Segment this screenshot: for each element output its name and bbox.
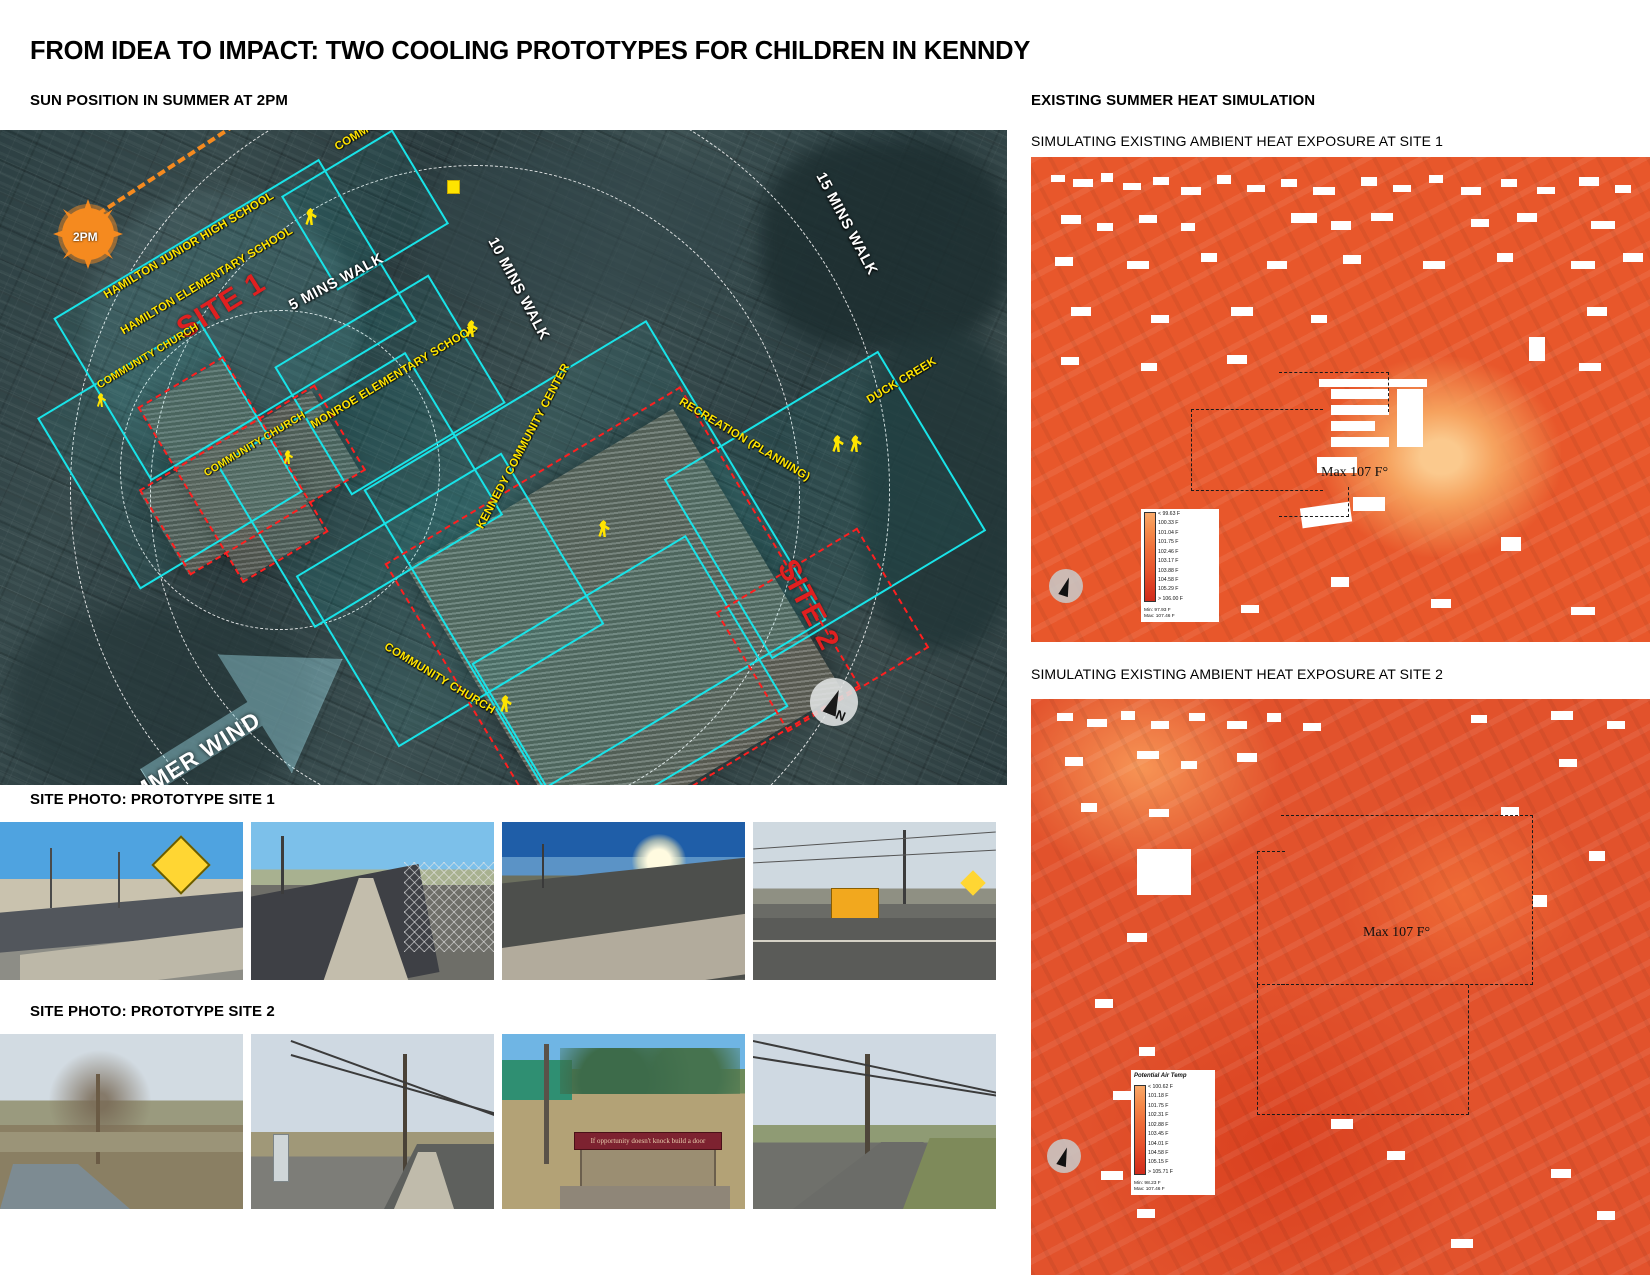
site2-study-boundary-notch: [1257, 851, 1285, 985]
legend-tick: 101.04 F: [1158, 531, 1183, 536]
building-footprint: [1241, 605, 1259, 613]
building-footprint: [1057, 713, 1073, 721]
section-heading-site-photo-1: SITE PHOTO: PROTOTYPE SITE 1: [30, 791, 275, 808]
legend-tick: 105.15 F: [1148, 1160, 1173, 1165]
building-footprint: [1139, 1047, 1155, 1056]
building-footprint: [1331, 437, 1389, 447]
building-footprint: [1055, 257, 1073, 266]
bench: [580, 1150, 716, 1190]
bench-sign-plank: If opportunity doesn't knock build a doo…: [574, 1132, 722, 1150]
large-building-footprint: [1137, 849, 1191, 895]
legend-tick: 104.01 F: [1148, 1142, 1173, 1147]
building-footprint: [1101, 1171, 1123, 1180]
building-footprint: [1073, 179, 1093, 187]
building-footprint: [1331, 221, 1351, 230]
poster-board: FROM IDEA TO IMPACT: TWO COOLING PROTOTY…: [0, 0, 1650, 1275]
aerial-context-map[interactable]: SUMMER WIND 2PM 5 MINS WALK 10 MINS WALK: [0, 130, 1007, 785]
building-footprint: [1353, 497, 1385, 511]
site2-legend: < 100.62 F 101.18 F 101.75 F 102.31 F 10…: [1131, 1082, 1215, 1178]
legend-tick: 102.31 F: [1148, 1113, 1173, 1118]
utility-pole: [281, 836, 284, 894]
utility-pole: [50, 848, 52, 908]
crossing-sign-icon: [960, 870, 985, 895]
building-footprint: [1393, 185, 1411, 192]
bare-tree-canopy: [40, 1044, 160, 1140]
building-footprint: [1551, 1169, 1571, 1178]
legend-tick: 103.17 F: [1158, 559, 1183, 564]
building-footprint: [1153, 177, 1169, 185]
building-footprint: [1071, 307, 1091, 316]
sun-time-label: 2PM: [73, 230, 98, 244]
building-footprint: [1461, 187, 1481, 195]
building-footprint: [1579, 363, 1601, 371]
building-footprint: [1181, 761, 1197, 769]
building-footprint: [1587, 307, 1607, 316]
lane-marking: [753, 940, 996, 942]
roadside-box: [273, 1134, 289, 1182]
building-footprint: [1559, 759, 1577, 767]
legend-tick: 100.33 F: [1158, 521, 1183, 526]
site2-legend-ticks: < 100.62 F 101.18 F 101.75 F 102.31 F 10…: [1148, 1085, 1173, 1175]
legend-tick: 105.29 F: [1158, 587, 1183, 592]
building-footprint: [1231, 307, 1253, 316]
building-footprint: [1151, 721, 1169, 729]
light-pole: [542, 844, 544, 888]
building-footprint: [1247, 185, 1265, 192]
power-line: [291, 1054, 494, 1119]
section-heading-sun-position: SUN POSITION IN SUMMER AT 2PM: [30, 92, 288, 109]
site1-max-temp-label: Max 107 F°: [1321, 465, 1388, 481]
subheading-site2-heat: SIMULATING EXISTING AMBIENT HEAT EXPOSUR…: [1031, 666, 1443, 682]
site1-legend-colorbar: [1144, 512, 1156, 602]
building-footprint: [1139, 215, 1157, 223]
building-footprint: [1331, 1119, 1353, 1129]
site1-legend-ticks: < 99.63 F 100.33 F 101.04 F 101.75 F 102…: [1158, 512, 1183, 602]
building-footprint: [1571, 261, 1595, 269]
building-footprint: [1431, 599, 1451, 608]
roadway: [753, 918, 996, 980]
library-book-icon: [447, 180, 460, 194]
bench-sign-text: If opportunity doesn't knock build a doo…: [575, 1133, 721, 1149]
building-footprint: [1387, 1151, 1405, 1160]
building-footprint: [1501, 179, 1517, 187]
building-footprint: [1217, 175, 1231, 184]
site2-photo-roadside-powerlines[interactable]: [251, 1034, 494, 1209]
site2-legend-colorbar: [1134, 1085, 1146, 1175]
site1-legend-footer: Min: 97.93 F Max: 107.46 F: [1141, 605, 1219, 622]
building-footprint: [1371, 213, 1393, 221]
school-bus-icon: [831, 888, 879, 920]
building-footprint: [1121, 711, 1135, 720]
power-line: [753, 850, 996, 864]
site1-photo-school-bus[interactable]: [753, 822, 996, 980]
utility-pole: [118, 852, 120, 908]
site1-compass: [1049, 569, 1083, 603]
section-heading-heat-simulation: EXISTING SUMMER HEAT SIMULATION: [1031, 92, 1315, 109]
legend-tick: 102.46 F: [1158, 550, 1183, 555]
building-footprint: [1201, 253, 1217, 262]
building-footprint: [1113, 1091, 1133, 1100]
legend-tick: 101.18 F: [1148, 1094, 1173, 1099]
concrete-pad: [560, 1186, 730, 1209]
site1-study-boundary: [1191, 409, 1323, 491]
building-footprint: [1623, 253, 1643, 262]
legend-tick: 103.45 F: [1148, 1132, 1173, 1137]
building-footprint: [1607, 721, 1625, 729]
building-footprint: [1591, 221, 1615, 229]
building-footprint: [1361, 177, 1377, 186]
heatmap-site2[interactable]: Max 107 F° Potential Air Temp < 100.62 F…: [1031, 699, 1650, 1275]
site1-study-boundary-upper: [1279, 372, 1389, 412]
photo-row-site2: If opportunity doesn't knock build a doo…: [0, 1034, 996, 1209]
building-footprint: [1151, 315, 1169, 323]
building-footprint: [1123, 183, 1141, 190]
building-footprint: [1227, 355, 1247, 364]
building-footprint: [1303, 723, 1321, 731]
building-footprint: [1181, 223, 1195, 231]
legend-tick: > 105.71 F: [1148, 1170, 1173, 1175]
compass-needle-icon: [1058, 575, 1073, 596]
building-footprint: [1589, 851, 1605, 861]
site2-photo-bench-sign[interactable]: If opportunity doesn't knock build a doo…: [502, 1034, 745, 1209]
building-footprint: [1127, 261, 1149, 269]
utility-pole: [903, 830, 906, 904]
building-footprint: [1533, 895, 1547, 907]
building-footprint: [1597, 1211, 1615, 1220]
building-footprint: [1451, 1239, 1473, 1248]
building-footprint: [1097, 223, 1113, 231]
site1-photo-crosswalk-sign[interactable]: [0, 822, 243, 980]
compass-needle-icon: [1056, 1145, 1071, 1166]
building-footprint: [1087, 719, 1107, 727]
legend-tick: 101.75 F: [1148, 1104, 1173, 1109]
legend-tick: 104.58 F: [1148, 1151, 1173, 1156]
legend-tick: 104.58 F: [1158, 578, 1183, 583]
building-footprint: [1065, 757, 1083, 766]
dry-grass-bank: [0, 1132, 243, 1152]
utility-pole: [865, 1054, 870, 1164]
legend-tick: > 106.00 F: [1158, 597, 1183, 602]
legend-tick: < 100.62 F: [1148, 1085, 1173, 1090]
building-footprint: [1181, 187, 1201, 195]
building-footprint: [1471, 219, 1489, 227]
creek-water: [0, 1164, 130, 1209]
building-footprint: [1051, 175, 1065, 182]
site2-max-temp-label: Max 107 F°: [1363, 925, 1430, 941]
site2-photo-creek-trees[interactable]: [0, 1034, 243, 1209]
chain-link-fence: [404, 862, 494, 952]
compass-rose: N: [810, 678, 858, 726]
subheading-site1-heat: SIMULATING EXISTING AMBIENT HEAT EXPOSUR…: [1031, 133, 1443, 149]
legend-tick: < 99.63 F: [1158, 512, 1183, 517]
site1-photo-sidewalk-fence[interactable]: [251, 822, 494, 980]
building-footprint: [1149, 809, 1169, 817]
power-line: [291, 1040, 494, 1120]
site1-photo-sun-glare-road[interactable]: [502, 822, 745, 980]
building-footprint: [1137, 1209, 1155, 1218]
building-footprint: [1343, 255, 1361, 264]
building-footprint: [1061, 215, 1081, 224]
heatmap-site1[interactable]: Max 107 F° < 99.63 F 100.33 F 101.04 F 1…: [1031, 157, 1650, 642]
building-footprint: [1291, 213, 1317, 223]
building-footprint: [1281, 179, 1297, 187]
building-footprint: [1095, 999, 1113, 1008]
building-footprint: [1189, 713, 1205, 721]
site2-study-boundary-upper: [1281, 815, 1533, 985]
building-footprint: [1571, 607, 1595, 615]
building-footprint: [1579, 177, 1599, 186]
building-footprint: [1497, 253, 1513, 262]
site2-legend-title: Potential Air Temp: [1134, 1073, 1211, 1079]
legend-tick: 101.75 F: [1158, 540, 1183, 545]
building-footprint: [1551, 711, 1573, 720]
site2-legend-footer: Min: 98.23 F Max: 107.46 F: [1131, 1178, 1215, 1195]
building-footprint: [1141, 363, 1157, 371]
power-line: [753, 1056, 996, 1098]
legend-tick: 103.88 F: [1158, 569, 1183, 574]
building-footprint: [1313, 187, 1335, 195]
building-footprint: [1471, 715, 1487, 723]
building-footprint: [1101, 173, 1113, 182]
building-footprint: [1127, 933, 1147, 942]
building-footprint: [1061, 357, 1079, 365]
building-footprint: [1137, 751, 1159, 759]
page-title: FROM IDEA TO IMPACT: TWO COOLING PROTOTY…: [30, 37, 1030, 66]
building-footprint: [1537, 187, 1555, 194]
site2-legend-max: Max: 107.46 F: [1134, 1187, 1211, 1193]
building-footprint: [1311, 315, 1327, 323]
site2-photo-rural-road[interactable]: [753, 1034, 996, 1209]
building-footprint: [1501, 537, 1521, 551]
building-footprint: [1429, 175, 1443, 183]
building-footprint: [1227, 721, 1247, 729]
tree-line: [560, 1048, 740, 1094]
section-heading-site-photo-2: SITE PHOTO: PROTOTYPE SITE 2: [30, 1003, 275, 1020]
power-line: [753, 1040, 996, 1096]
photo-row-site1: [0, 822, 996, 980]
site2-compass: [1047, 1139, 1081, 1173]
building-footprint: [1615, 185, 1631, 193]
power-line: [753, 832, 995, 850]
site1-study-boundary-lower: [1279, 487, 1349, 517]
site2-study-boundary-lower: [1257, 985, 1469, 1115]
building-footprint: [1517, 213, 1537, 222]
school-crossing-sign-icon: [151, 835, 210, 894]
legend-tick: 102.88 F: [1148, 1123, 1173, 1128]
building-footprint: [1331, 577, 1349, 587]
building-footprint: [1237, 753, 1257, 762]
building-footprint: [1423, 261, 1445, 269]
building-footprint: [1397, 389, 1423, 447]
building-footprint: [1267, 713, 1281, 722]
site1-legend-max: Max: 107.46 F: [1144, 614, 1215, 620]
building-footprint: [1529, 337, 1545, 361]
building-footprint: [1081, 803, 1097, 812]
building-footprint: [1331, 421, 1375, 431]
site1-legend: < 99.63 F 100.33 F 101.04 F 101.75 F 102…: [1141, 509, 1219, 605]
utility-pole: [544, 1044, 549, 1164]
building-footprint: [1267, 261, 1287, 269]
site2-legend-title-box: Potential Air Temp: [1131, 1070, 1215, 1082]
